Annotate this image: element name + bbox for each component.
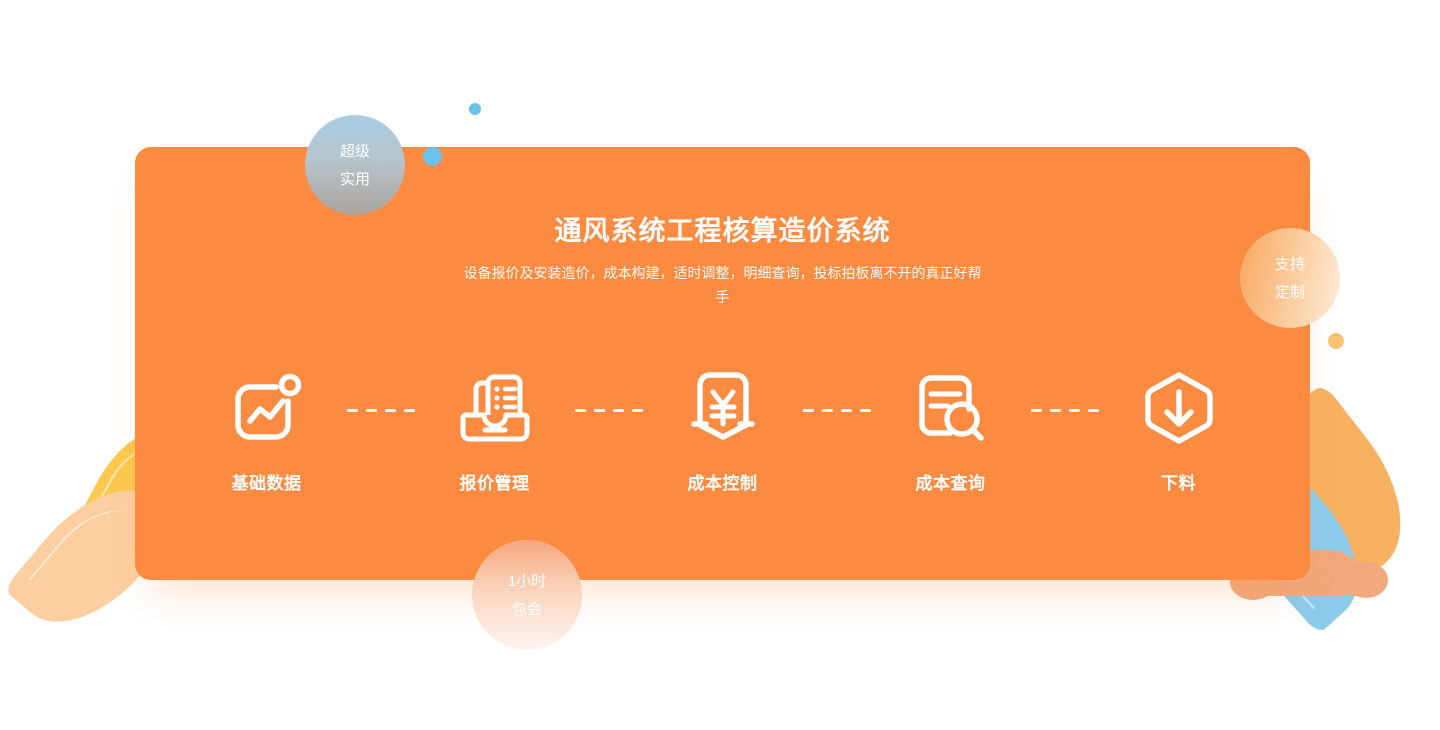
badge-super-useful: 超级 实用 bbox=[305, 115, 405, 215]
badge-line-2: 包会 bbox=[512, 602, 542, 617]
connector-dashes bbox=[798, 409, 876, 412]
document-search-icon bbox=[910, 367, 992, 449]
feature-item-basic-data[interactable]: 基础数据 bbox=[192, 367, 342, 494]
page-subtitle: 设备报价及安装造价，成本构建，适时调整，明细查询，投标拍板离不开的真正好帮手 bbox=[463, 261, 983, 309]
badge-line-1: 1小时 bbox=[508, 574, 546, 589]
product-card: 通风系统工程核算造价系统 设备报价及安装造价，成本构建，适时调整，明细查询，投标… bbox=[135, 147, 1310, 580]
connector-dashes bbox=[570, 409, 648, 412]
badge-line-1: 超级 bbox=[340, 144, 370, 159]
feature-item-material-cutting[interactable]: 下料 bbox=[1104, 367, 1254, 494]
page-title: 通风系统工程核算造价系统 bbox=[135, 209, 1310, 248]
feature-item-quote-management[interactable]: 报价管理 bbox=[420, 367, 570, 494]
badge-line-2: 定制 bbox=[1275, 285, 1305, 300]
feature-item-cost-query[interactable]: 成本查询 bbox=[876, 367, 1026, 494]
feature-label: 报价管理 bbox=[460, 469, 530, 494]
feature-list: 基础数据 报价管理 bbox=[185, 367, 1260, 494]
feature-label: 成本控制 bbox=[688, 469, 758, 494]
connector-dashes bbox=[1026, 409, 1104, 412]
feature-label: 下料 bbox=[1161, 469, 1196, 494]
badge-line-2: 实用 bbox=[340, 172, 370, 187]
badge-supports-customization: 支持 定制 bbox=[1240, 228, 1340, 328]
chart-card-icon bbox=[226, 367, 308, 449]
feature-label: 成本查询 bbox=[916, 469, 986, 494]
orange-dot-icon bbox=[1328, 333, 1344, 349]
connector-dashes bbox=[342, 409, 420, 412]
feature-label: 基础数据 bbox=[232, 469, 302, 494]
hexagon-download-icon bbox=[1138, 367, 1220, 449]
feature-item-cost-control[interactable]: 成本控制 bbox=[648, 367, 798, 494]
badge-one-hour-mastery: 1小时 包会 bbox=[472, 540, 582, 650]
yuan-banner-icon bbox=[682, 367, 764, 449]
badge-line-1: 支持 bbox=[1275, 257, 1305, 272]
blue-dot-small-icon bbox=[469, 103, 481, 115]
promo-banner: 通风系统工程核算造价系统 设备报价及安装造价，成本构建，适时调整，明细查询，投标… bbox=[0, 0, 1440, 730]
blue-dot-large-icon bbox=[423, 147, 442, 166]
inbox-documents-icon bbox=[454, 367, 536, 449]
